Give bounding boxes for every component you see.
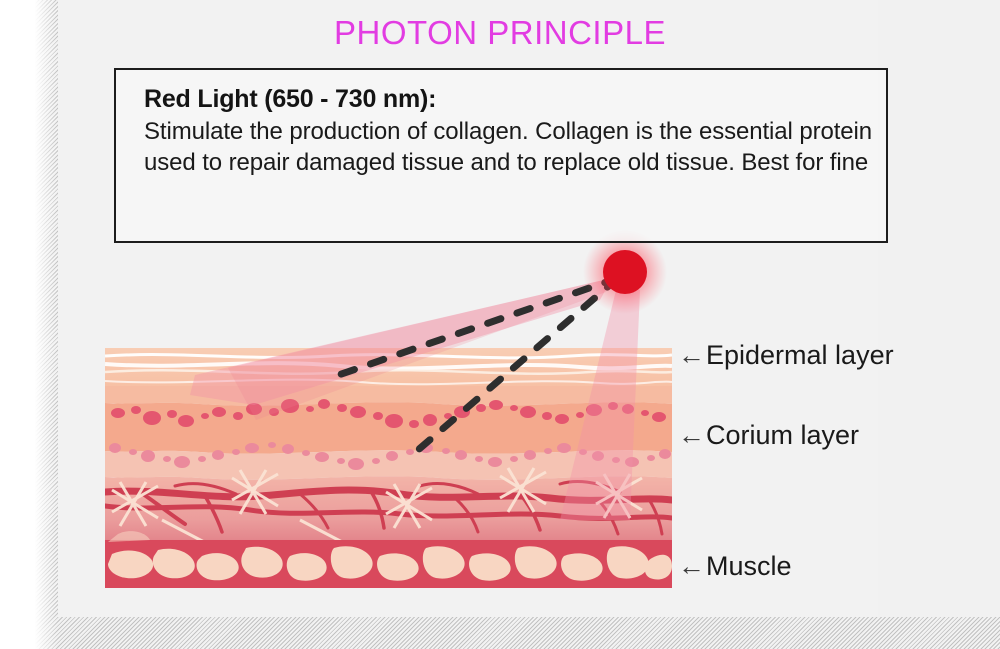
info-box-heading: Red Light (650 - 730 nm): [144,85,886,114]
light-source-icon [603,250,647,294]
muscle-layer-label-text: Muscle [706,551,792,582]
left-arrow-icon: ← [678,553,705,580]
left-arrow-icon: ← [678,342,705,369]
page-title: PHOTON PRINCIPLE [0,14,1000,52]
corium-layer-label: ← Corium layer [678,420,859,451]
epidermal-layer-label-text: Epidermal layer [706,340,894,371]
info-box-body: Stimulate the production of collagen. Co… [144,116,886,178]
left-arrow-icon: ← [678,422,705,449]
red-light-info-box: Red Light (650 - 730 nm): Stimulate the … [114,68,888,243]
muscle-layer-label: ← Muscle [678,551,792,582]
corium-layer-label-text: Corium layer [706,420,859,451]
epidermal-layer-label: ← Epidermal layer [678,340,894,371]
